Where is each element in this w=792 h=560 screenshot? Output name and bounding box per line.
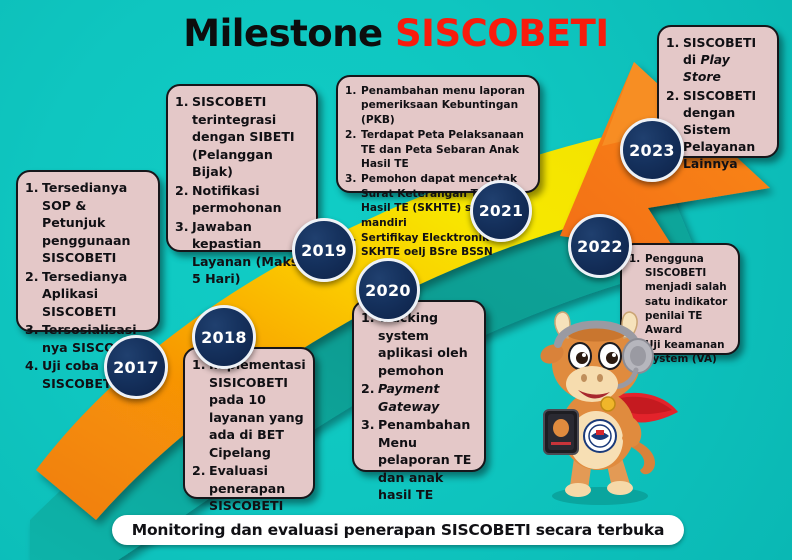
year-label: 2017 [113,358,159,377]
list-item: Evaluasi penerapan SISCOBETI [192,462,307,515]
year-circle-2021[interactable]: 2021 [470,180,532,242]
list-item: Jawaban kepastian Layanan (Maks. 5 Hari) [175,218,310,288]
list-item: SISCOBETI terintegrasi dengan SIBETI (Pe… [175,93,310,181]
mascot-badge-red [596,430,604,435]
mascot-eye-glint-left [582,353,586,357]
milestone-list-2018: Implementasi SISICOBETI pada 10 layanan … [192,356,307,515]
siscobeti-cow-mascot [508,300,688,510]
year-circle-2022[interactable]: 2022 [568,214,632,278]
year-circle-2019[interactable]: 2019 [292,218,356,282]
year-circle-2017[interactable]: 2017 [104,335,168,399]
milestone-list-2020: Tracking system aplikasi oleh pemohon Pa… [361,309,478,504]
list-item: Penambahan menu laporan pemeriksaan Kebu… [345,84,532,127]
year-label: 2020 [365,281,411,300]
banner-text: Monitoring dan evaluasi penerapan SISCOB… [132,521,665,539]
milestone-box-2018[interactable]: Implementasi SISICOBETI pada 10 layanan … [183,347,315,499]
infographic-canvas: Milestone SISCOBETI Tersedianya SOP & Pe… [0,0,792,560]
milestone-box-2021[interactable]: Penambahan menu laporan pemeriksaan Kebu… [336,75,540,193]
mascot-bell-icon [601,397,615,411]
year-label: 2021 [479,202,523,220]
year-label: 2018 [201,328,247,347]
mascot-pupil-right [606,352,618,364]
year-label: 2022 [577,237,623,256]
list-item: Payment Gateway [361,380,478,415]
list-item: Terdapat Peta Pelaksanaan TE dan Peta Se… [345,128,532,171]
year-label: 2019 [301,241,347,260]
mascot-hoof-left [565,483,591,497]
mascot-nostril-left [581,374,587,382]
mascot-eye-glint-right [612,353,616,357]
mascot-headset-pad [630,346,646,366]
milestone-list-2019: SISCOBETI terintegrasi dengan SIBETI (Pe… [175,93,310,288]
milestone-box-2020[interactable]: Tracking system aplikasi oleh pemohon Pa… [352,300,486,472]
title-milestone: Milestone [183,12,382,55]
milestone-box-2017[interactable]: Tersedianya SOP & Petunjuk penggunaan SI… [16,170,160,332]
list-item: Penambahan Menu pelaporan TE dan anak ha… [361,416,478,504]
list-item: SISCOBETI di Play Store [666,34,771,86]
list-item: Tersedianya Aplikasi SISCOBETI [25,268,152,321]
year-circle-2023[interactable]: 2023 [620,118,684,182]
milestone-box-2019[interactable]: SISCOBETI terintegrasi dengan SIBETI (Pe… [166,84,318,252]
mascot-pupil-left [576,352,588,364]
mascot-nostril-right [597,374,603,382]
list-item: Tersedianya SOP & Petunjuk penggunaan SI… [25,179,152,267]
year-circle-2018[interactable]: 2018 [192,305,256,369]
year-label: 2023 [629,141,675,160]
bottom-banner: Monitoring dan evaluasi penerapan SISCOB… [112,515,684,545]
mascot-tablet-art [553,419,569,437]
mascot-tablet-caption [551,442,571,445]
list-item: Notifikasi permohonan [175,182,310,217]
year-circle-2020[interactable]: 2020 [356,258,420,322]
mascot-hoof-right [607,481,633,495]
list-item: Implementasi SISICOBETI pada 10 layanan … [192,356,307,461]
title-siscobeti: SISCOBETI [395,12,609,55]
